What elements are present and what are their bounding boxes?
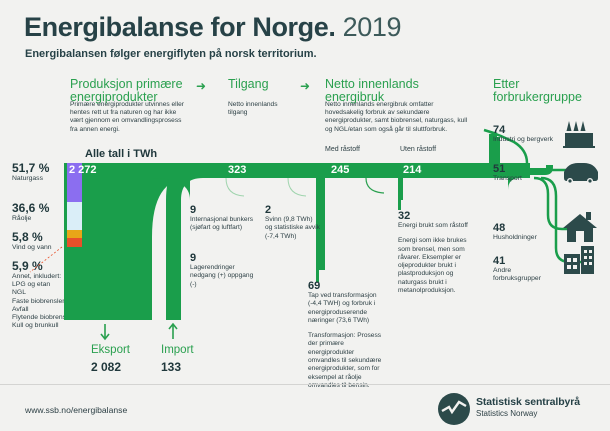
flow-eksport: Eksport 2 082 (91, 344, 130, 374)
consumer-num-transport: 51 (493, 163, 561, 175)
consumer-num-husholdninger: 48 (493, 222, 561, 234)
note-text-bunkers: Internasjonal bunkers (sjøfart og luftfa… (190, 216, 256, 233)
import-arrow-icon (169, 324, 177, 339)
office-building-icon (564, 246, 594, 274)
note-num-bunkers: 9 (190, 204, 256, 216)
tick-rastoff (398, 198, 401, 210)
note-svinn: 2 Svinn (9,8 TWh) og statistiske avvik (… (265, 204, 321, 241)
note-num-rastoff: 32 (398, 210, 478, 222)
ssb-logo-icon (437, 392, 471, 426)
consumer-label-industri: Industri og bergverk (493, 136, 561, 144)
footer-url[interactable]: www.ssb.no/energibalanse (25, 405, 127, 415)
note-extra-rastoff: Energi som ikke brukes som brensel, men … (398, 237, 478, 295)
flow-import: Import 133 (161, 344, 194, 374)
footer-logo-name: Statistisk sentralbyrå (476, 396, 580, 408)
flow-export-stem (64, 237, 152, 320)
footer-divider (0, 384, 610, 385)
note-tap-ved-transformasjon: 69 Tap ved transformasjon (-4,4 TWH) og … (308, 280, 386, 390)
band-value-uten-rastoff: 214 (403, 164, 421, 176)
band-value-tilgang: 323 (228, 164, 246, 176)
consumer-label-andre: Andre forbruksgrupper (493, 267, 548, 284)
footer-logo-sub: Statistics Norway (476, 409, 537, 418)
house-icon (563, 212, 597, 242)
flow-label-eksport: Eksport (91, 344, 130, 356)
consumer-group-husholdninger: 48 Husholdninger (493, 222, 561, 242)
bar-leader-annet (30, 247, 62, 272)
flow-label-import: Import (161, 344, 194, 356)
note-lagerendringer: 9 Lagerendringer nedgang (+) oppgang (-) (190, 252, 256, 289)
note-text-rastoff: Energi brukt som råstoff (398, 222, 478, 230)
note-extra-tap: Transformasjon: Prosess der primære ener… (308, 332, 386, 390)
flow-main-band (64, 163, 530, 178)
leader-rastoff (366, 178, 384, 193)
flow-drop-rastoff (398, 178, 403, 200)
consumer-num-andre: 41 (493, 255, 548, 267)
flow-value-import: 133 (161, 360, 194, 374)
note-energi-brukt-som-rastoff: 32 Energi brukt som råstoff Energi som i… (398, 210, 478, 295)
note-num-svinn: 2 (265, 204, 321, 216)
car-icon (564, 163, 598, 184)
note-text-lagerendringer: Lagerendringer nedgang (+) oppgang (-) (190, 264, 256, 289)
flow-value-eksport: 2 082 (91, 360, 130, 374)
leader-bunkers (226, 178, 244, 196)
note-internasjonal-bunkers: 9 Internasjonal bunkers (sjøfart og luft… (190, 204, 256, 233)
note-num-lagerendringer: 9 (190, 252, 256, 264)
note-text-svinn: Svinn (9,8 TWh) og statistiske avvik (-7… (265, 216, 321, 241)
leader-svinn (288, 178, 306, 196)
band-value-produksjon: 2 272 (69, 164, 97, 176)
factory-icon (563, 121, 595, 148)
consumer-group-industri: 74 Industri og bergverk (493, 124, 561, 144)
flow-import-riser (166, 163, 203, 320)
consumer-num-industri: 74 (493, 124, 561, 136)
note-text-tap: Tap ved transformasjon (-4,4 TWH) og for… (308, 292, 386, 325)
consumer-group-andre: 41 Andre forbruksgrupper (493, 255, 548, 284)
band-value-med-rastoff: 245 (331, 164, 349, 176)
consumer-label-transport: Transport (493, 175, 561, 183)
note-num-tap: 69 (308, 280, 386, 292)
consumer-label-husholdninger: Husholdninger (493, 234, 561, 242)
bar-edge-left (64, 163, 67, 247)
infographic-root: Energibalanse for Norge. 2019 Energibala… (0, 0, 610, 431)
eksport-arrow-icon (101, 324, 109, 339)
consumer-group-transport: 51 Transport (493, 163, 561, 183)
